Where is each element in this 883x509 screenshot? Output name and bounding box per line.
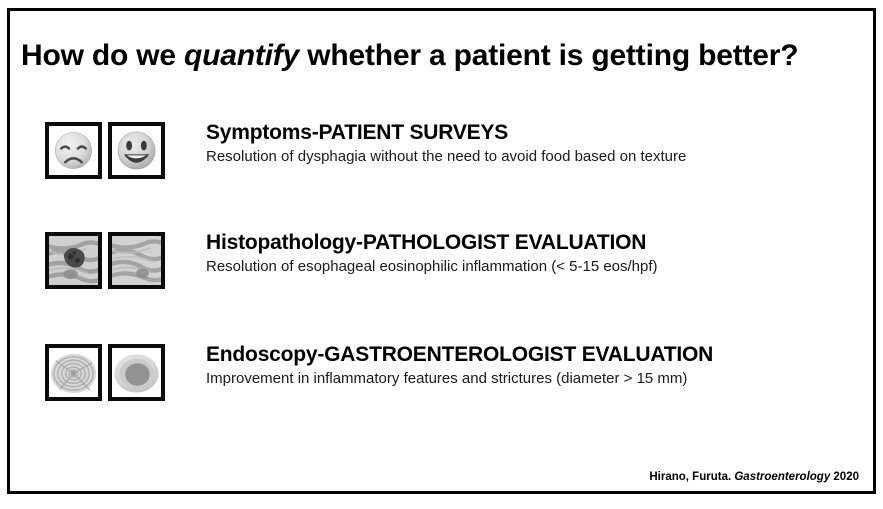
histology-normal-icon: [108, 232, 165, 289]
citation-authors: Hirano, Furuta.: [649, 471, 734, 483]
endoscopy-rings-icon: [45, 344, 102, 401]
citation-year: 2020: [830, 471, 859, 483]
row-histology: Histopathology-PATHOLOGIST EVALUATION Re…: [10, 224, 879, 290]
histology-icon-pair: [45, 232, 165, 289]
endoscopy-subtext: Improvement in inflammatory features and…: [206, 369, 866, 389]
title-emphasis: quantify: [184, 39, 299, 72]
endoscopy-heading: Endoscopy-GASTROENTEROLOGIST EVALUATION: [206, 342, 866, 367]
symptoms-heading: Symptoms-PATIENT SURVEYS: [206, 120, 866, 145]
title-suffix: whether a patient is getting better?: [299, 39, 798, 72]
endoscopy-normal-lumen-icon: [108, 344, 165, 401]
endoscopy-icon-pair: [45, 344, 165, 401]
happy-face-icon: [108, 122, 165, 179]
histology-text-block: Histopathology-PATHOLOGIST EVALUATION Re…: [206, 230, 866, 277]
symptoms-icon-pair: [45, 122, 165, 179]
row-symptoms: Symptoms-PATIENT SURVEYS Resolution of d…: [10, 114, 879, 180]
histology-inflamed-icon: [45, 232, 102, 289]
row-endoscopy: Endoscopy-GASTROENTEROLOGIST EVALUATION …: [10, 336, 879, 402]
slide-frame: How do we quantify whether a patient is …: [7, 8, 876, 494]
endoscopy-text-block: Endoscopy-GASTROENTEROLOGIST EVALUATION …: [206, 342, 866, 389]
citation: Hirano, Furuta. Gastroenterology 2020: [649, 471, 859, 483]
symptoms-text-block: Symptoms-PATIENT SURVEYS Resolution of d…: [206, 120, 866, 167]
symptoms-subtext: Resolution of dysphagia without the need…: [206, 147, 866, 167]
citation-journal: Gastroenterology: [734, 471, 830, 483]
title-prefix: How do we: [21, 39, 184, 72]
sad-face-icon: [45, 122, 102, 179]
page-title: How do we quantify whether a patient is …: [21, 39, 867, 73]
histology-subtext: Resolution of esophageal eosinophilic in…: [206, 257, 866, 277]
histology-heading: Histopathology-PATHOLOGIST EVALUATION: [206, 230, 866, 255]
